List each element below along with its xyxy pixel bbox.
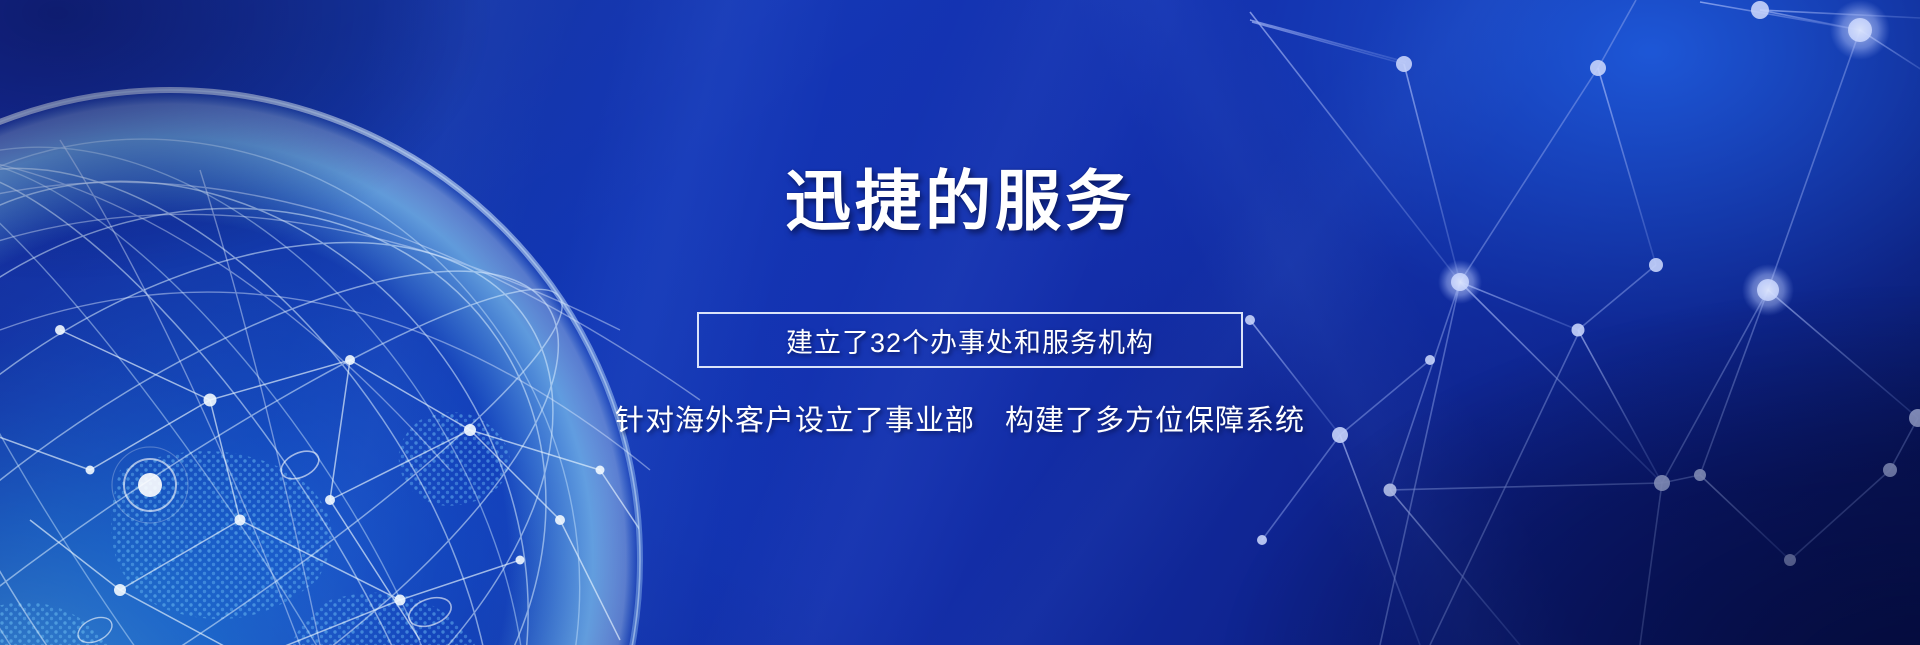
service-banner: 迅捷的服务 建立了32个办事处和服务机构 针对海外客户设立了事业部 构建了多方位… <box>0 0 1920 645</box>
tagline-text: 针对海外客户设立了事业部 构建了多方位保障系统 <box>0 397 1920 439</box>
highlight-box: 建立了32个办事处和服务机构 <box>697 312 1243 368</box>
page-title: 迅捷的服务 <box>0 168 1920 234</box>
banner-content: 迅捷的服务 建立了32个办事处和服务机构 针对海外客户设立了事业部 构建了多方位… <box>0 0 1920 645</box>
highlight-box-text: 建立了32个办事处和服务机构 <box>786 321 1154 360</box>
